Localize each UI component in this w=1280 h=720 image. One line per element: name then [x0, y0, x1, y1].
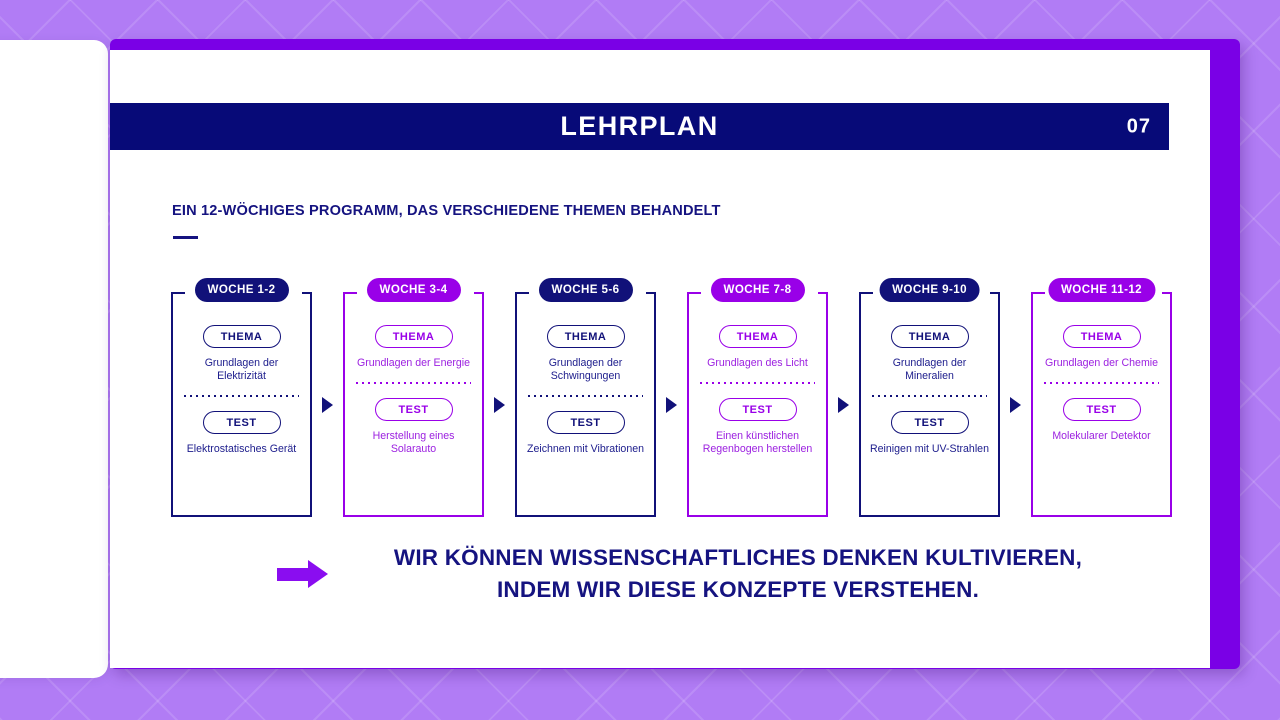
card-separator-1 [312, 292, 343, 517]
test-text-2: Herstellung eines Solarauto [345, 430, 482, 456]
week-card-1[interactable]: WOCHE 1-2 THEMA Grundlagen der Elektrizi… [171, 278, 312, 517]
test-text-5: Reinigen mit UV-Strahlen [861, 443, 998, 456]
week-card-body-3: THEMA Grundlagen der Schwingungen TEST Z… [515, 292, 656, 517]
thema-pill-1: THEMA [203, 325, 281, 348]
week-cards-row: WOCHE 1-2 THEMA Grundlagen der Elektrizi… [171, 278, 1173, 517]
card-separator-3 [656, 292, 687, 517]
test-pill-1: TEST [203, 411, 281, 434]
subtitle-underline-dash [173, 236, 198, 239]
triangle-right-icon [838, 397, 849, 413]
slide-content-area: LEHRPLAN 07 EIN 12-WÖCHIGES PROGRAMM, DA… [110, 50, 1210, 668]
week-card-2[interactable]: WOCHE 3-4 THEMA Grundlagen der Energie T… [343, 278, 484, 517]
callout-text: WIR KÖNNEN WISSENSCHAFTLICHES DENKEN KUL… [357, 542, 1171, 606]
card-divider-1 [184, 395, 299, 397]
bottom-callout: WIR KÖNNEN WISSENSCHAFTLICHES DENKEN KUL… [171, 542, 1171, 606]
triangle-right-icon [666, 397, 677, 413]
thema-text-1: Grundlagen der Elektrizität [173, 357, 310, 383]
thema-pill-6: THEMA [1063, 325, 1141, 348]
week-badge-6: WOCHE 11-12 [1048, 278, 1155, 302]
card-divider-6 [1044, 382, 1159, 384]
arrow-right-icon [277, 557, 337, 591]
arrow-head [308, 560, 328, 588]
thema-text-2: Grundlagen der Energie [345, 357, 482, 370]
callout-line-1: WIR KÖNNEN WISSENSCHAFTLICHES DENKEN KUL… [357, 542, 1119, 574]
thema-pill-2: THEMA [375, 325, 453, 348]
triangle-right-icon [1010, 397, 1021, 413]
thema-text-3: Grundlagen der Schwingungen [517, 357, 654, 383]
card-separator-2 [484, 292, 515, 517]
test-text-3: Zeichnen mit Vibrationen [517, 443, 654, 456]
left-white-panel [0, 40, 108, 678]
thema-text-4: Grundlagen des Licht [689, 357, 826, 370]
test-text-6: Molekularer Detektor [1033, 430, 1170, 443]
week-card-5[interactable]: WOCHE 9-10 THEMA Grundlagen der Minerali… [859, 278, 1000, 517]
card-divider-2 [356, 382, 471, 384]
thema-pill-5: THEMA [891, 325, 969, 348]
triangle-right-icon [494, 397, 505, 413]
arrow-shaft [277, 568, 309, 581]
thema-text-6: Grundlagen der Chemie [1033, 357, 1170, 370]
week-card-6[interactable]: WOCHE 11-12 THEMA Grundlagen der Chemie … [1031, 278, 1172, 517]
card-separator-4 [828, 292, 859, 517]
page-number: 07 [1127, 115, 1151, 138]
callout-line-2: INDEM WIR DIESE KONZEPTE VERSTEHEN. [357, 574, 1119, 606]
page-title: LEHRPLAN [560, 111, 718, 142]
test-pill-4: TEST [719, 398, 797, 421]
triangle-right-icon [322, 397, 333, 413]
thema-pill-3: THEMA [547, 325, 625, 348]
test-pill-6: TEST [1063, 398, 1141, 421]
test-pill-2: TEST [375, 398, 453, 421]
week-card-body-1: THEMA Grundlagen der Elektrizität TEST E… [171, 292, 312, 517]
week-badge-3: WOCHE 5-6 [538, 278, 632, 302]
test-text-4: Einen künstlichen Regenbogen herstellen [689, 430, 826, 456]
week-card-body-2: THEMA Grundlagen der Energie TEST Herste… [343, 292, 484, 517]
week-card-body-4: THEMA Grundlagen des Licht TEST Einen kü… [687, 292, 828, 517]
week-badge-4: WOCHE 7-8 [710, 278, 804, 302]
card-divider-3 [528, 395, 643, 397]
week-card-body-6: THEMA Grundlagen der Chemie TEST Molekul… [1031, 292, 1172, 517]
card-divider-4 [700, 382, 815, 384]
test-pill-5: TEST [891, 411, 969, 434]
week-card-4[interactable]: WOCHE 7-8 THEMA Grundlagen des Licht TES… [687, 278, 828, 517]
week-badge-5: WOCHE 9-10 [879, 278, 980, 302]
thema-text-5: Grundlagen der Mineralien [861, 357, 998, 383]
week-card-body-5: THEMA Grundlagen der Mineralien TEST Rei… [859, 292, 1000, 517]
week-card-3[interactable]: WOCHE 5-6 THEMA Grundlagen der Schwingun… [515, 278, 656, 517]
test-pill-3: TEST [547, 411, 625, 434]
test-text-1: Elektrostatisches Gerät [173, 443, 310, 456]
card-divider-5 [872, 395, 987, 397]
slide-header-bar: LEHRPLAN 07 [110, 103, 1169, 150]
week-badge-1: WOCHE 1-2 [194, 278, 288, 302]
subtitle-text: EIN 12-WÖCHIGES PROGRAMM, DAS VERSCHIEDE… [172, 203, 721, 219]
week-badge-2: WOCHE 3-4 [366, 278, 460, 302]
card-separator-5 [1000, 292, 1031, 517]
thema-pill-4: THEMA [719, 325, 797, 348]
